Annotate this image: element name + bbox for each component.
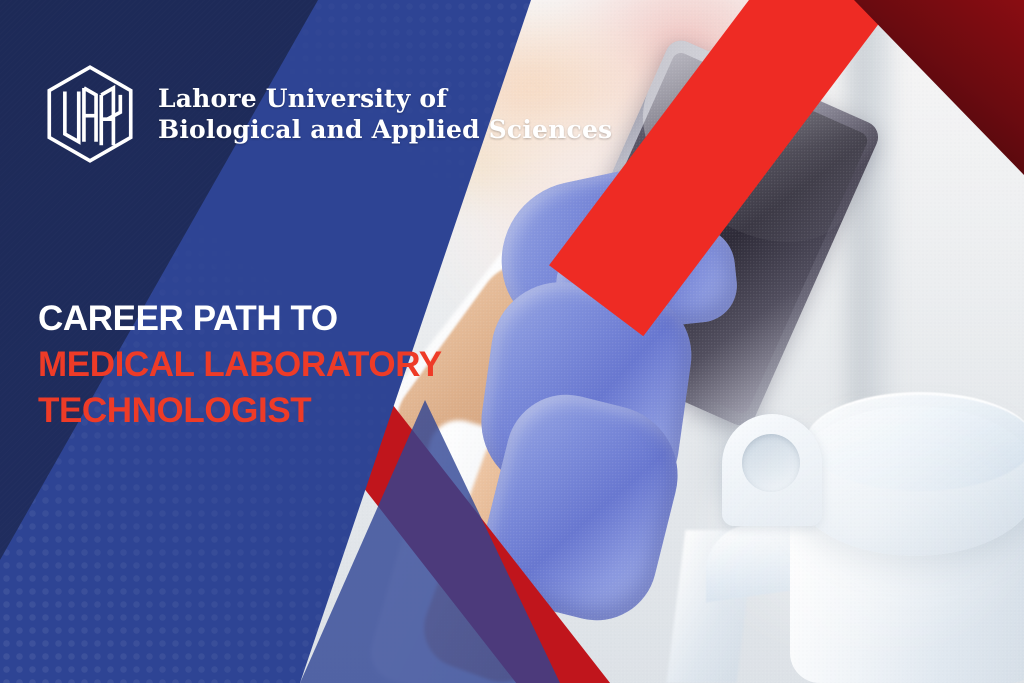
headline-title-line1: MEDICAL LABORATORY	[38, 342, 458, 388]
university-name-line1: Lahore University of	[158, 83, 612, 114]
headline-title: MEDICAL LABORATORY TECHNOLOGIST	[38, 342, 458, 434]
university-name: Lahore University of Biological and Appl…	[158, 83, 612, 146]
headline-title-line2: TECHNOLOGIST	[38, 388, 458, 434]
university-name-line2: Biological and Applied Sciences	[158, 114, 612, 145]
brand-lockup: Lahore University of Biological and Appl…	[38, 62, 612, 166]
headline-eyebrow: CAREER PATH TO	[38, 296, 458, 342]
career-path-banner: Lahore University of Biological and Appl…	[0, 0, 1024, 683]
lubas-hexagon-monogram-icon	[38, 62, 142, 166]
headline-block: CAREER PATH TO MEDICAL LABORATORY TECHNO…	[38, 296, 458, 435]
